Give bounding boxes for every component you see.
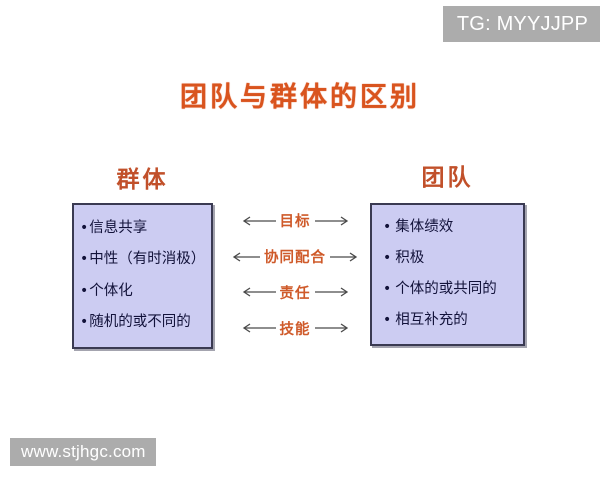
left-column-box: • 信息共享 • 中性（有时消极） • 个体化 • 随机的或不同的 [72, 203, 213, 349]
comparison-dimensions: 目标 协同配合 责任 [222, 203, 368, 346]
bullet-icon: • [80, 315, 88, 329]
list-item-label: 随机的或不同的 [89, 315, 191, 331]
comparison-label: 技能 [277, 318, 314, 339]
list-item: • 相互补充的 [372, 313, 523, 329]
list-item: • 随机的或不同的 [74, 315, 211, 331]
list-item: • 信息共享 [74, 221, 211, 237]
page-title: 团队与群体的区别 [0, 75, 600, 114]
arrow-left-icon [241, 322, 277, 334]
comparison-row: 责任 [222, 281, 368, 303]
list-item: • 集体绩效 [372, 220, 523, 236]
arrow-right-icon [314, 286, 350, 298]
list-item: • 积极 [372, 251, 523, 267]
list-item-label: 集体绩效 [395, 220, 453, 236]
list-item-label: 个体化 [89, 284, 133, 300]
comparison-row: 技能 [222, 317, 368, 339]
bullet-icon: • [80, 252, 88, 266]
comparison-row: 目标 [222, 210, 368, 232]
slide-canvas: TG: MYYJJPP 团队与群体的区别 群体 团队 • 信息共享 • 中性（有… [0, 0, 600, 480]
arrow-left-icon [241, 286, 277, 298]
bullet-icon: • [383, 220, 391, 234]
comparison-row: 协同配合 [222, 246, 368, 268]
comparison-label: 目标 [277, 210, 314, 231]
arrow-right-icon [329, 251, 359, 263]
bullet-icon: • [383, 313, 391, 327]
left-column-header: 群体 [72, 160, 213, 194]
arrow-left-icon [241, 215, 277, 227]
list-item-label: 相互补充的 [395, 313, 468, 329]
list-item: • 个体化 [74, 284, 211, 300]
list-item: • 中性（有时消极） [74, 252, 211, 268]
bullet-icon: • [80, 284, 88, 298]
watermark-bottom-left: www.stjhgc.com [10, 438, 156, 466]
arrow-left-icon [231, 251, 261, 263]
right-column-box: • 集体绩效 • 积极 • 个体的或共同的 • 相互补充的 [370, 203, 525, 346]
list-item-label: 积极 [395, 251, 424, 267]
bullet-icon: • [383, 282, 391, 296]
right-column-header: 团队 [370, 158, 525, 192]
comparison-label: 责任 [277, 282, 314, 303]
arrow-right-icon [314, 322, 350, 334]
list-item-label: 个体的或共同的 [395, 282, 497, 298]
watermark-top-right: TG: MYYJJPP [443, 6, 600, 42]
arrow-right-icon [314, 215, 350, 227]
comparison-label: 协同配合 [261, 246, 329, 267]
list-item: • 个体的或共同的 [372, 282, 523, 298]
list-item-label: 中性（有时消极） [89, 252, 205, 268]
bullet-icon: • [80, 221, 88, 235]
bullet-icon: • [383, 251, 391, 265]
list-item-label: 信息共享 [89, 221, 147, 237]
